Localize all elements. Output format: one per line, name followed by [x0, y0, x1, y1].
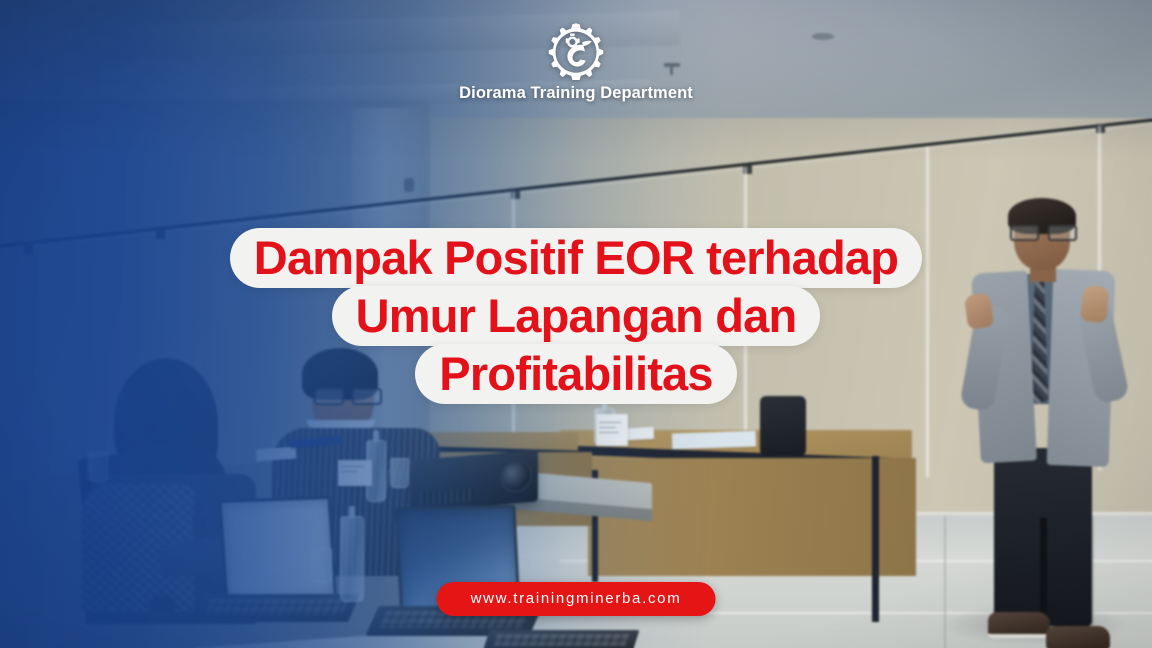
title-line-2: Umur Lapangan dan: [332, 286, 821, 346]
wall-camera-icon: [404, 178, 414, 192]
website-url-badge[interactable]: www.trainingminerba.com: [437, 582, 716, 616]
drinking-glass: [88, 452, 108, 482]
paper-sheet: [672, 431, 757, 450]
brand-name: Diorama Training Department: [459, 84, 693, 103]
projector-vent: [420, 488, 474, 506]
shoe: [988, 612, 1050, 638]
laptop-keyboard: [192, 594, 359, 622]
title-line-1: Dampak Positif EOR terhadap: [230, 228, 922, 288]
slide-title: Dampak Positif EOR terhadap Umur Lapanga…: [0, 228, 1152, 404]
thumbnail-slide: Diorama Training Department Dampak Posit…: [0, 0, 1152, 648]
name-card: [596, 414, 628, 446]
computer-mouse: [150, 596, 176, 612]
chair: [760, 396, 806, 456]
shoe: [1046, 626, 1110, 648]
drinking-glass: [390, 458, 409, 488]
projector-lens-icon: [500, 459, 532, 494]
title-line-3: Profitabilitas: [415, 344, 736, 404]
drinking-glass: [310, 548, 332, 582]
water-bottle: [340, 516, 364, 602]
desk-leg: [872, 456, 879, 622]
laptop-keyboard: [482, 630, 639, 648]
gear-logo-icon: [545, 22, 607, 80]
name-card: [338, 460, 372, 486]
brand-header: Diorama Training Department: [0, 22, 1152, 103]
